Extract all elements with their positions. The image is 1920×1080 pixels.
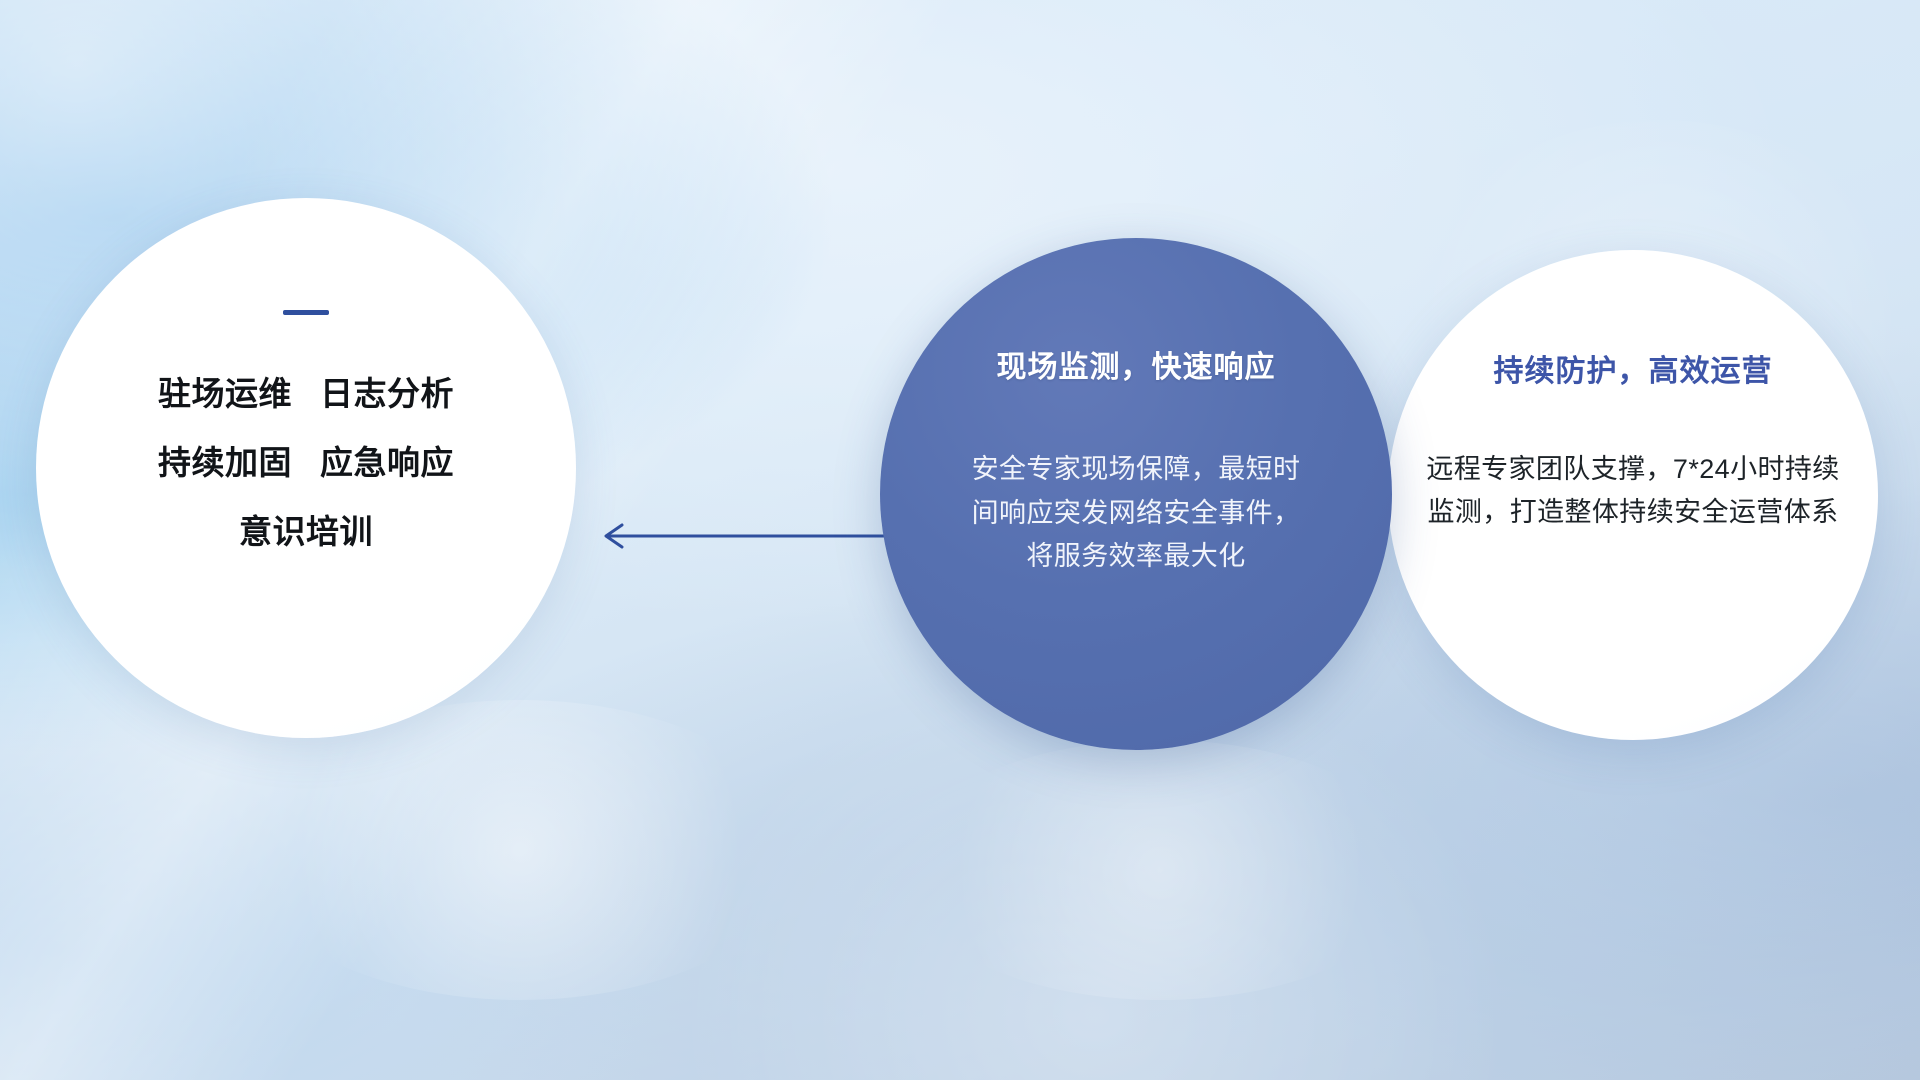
blue-circle-body: 安全专家现场保障，最短时间响应突发网络安全事件，将服务效率最大化 (971, 448, 1301, 579)
onsite-monitoring-circle[interactable]: 现场监测，快速响应 安全专家现场保障，最短时间响应突发网络安全事件，将服务效率最… (880, 238, 1392, 750)
capability-label-rizhifenxi: 日志分析 (320, 375, 454, 412)
flow-arrow-icon (594, 520, 894, 552)
capabilities-circle[interactable]: 驻场运维日志分析 持续加固应急响应 意识培训 (36, 198, 576, 738)
background-glow-left (240, 700, 800, 1000)
capability-label-yishipeixun: 意识培训 (239, 513, 373, 550)
blue-circle-title: 现场监测，快速响应 (997, 342, 1276, 386)
background-glow-center (900, 740, 1420, 1000)
continuous-operations-circle[interactable]: 持续防护，高效运营 远程专家团队支撑，7*24小时持续监测，打造整体持续安全运营… (1388, 250, 1878, 740)
right-circle-body: 远程专家团队支撑，7*24小时持续监测，打造整体持续安全运营体系 (1423, 448, 1843, 534)
capability-row-3: 意识培训 (239, 515, 373, 548)
capability-label-yingjixiangying: 应急响应 (320, 444, 454, 481)
divider-dash-icon (283, 310, 329, 315)
diagram-canvas: 驻场运维日志分析 持续加固应急响应 意识培训 持续防护，高效运营 远程专家团队支… (0, 0, 1920, 1080)
capability-row-2: 持续加固应急响应 (158, 446, 454, 479)
capability-label-chixujiagu: 持续加固 (158, 444, 292, 481)
capability-label-zhuchangyunwei: 驻场运维 (158, 375, 292, 412)
capability-row-1: 驻场运维日志分析 (158, 377, 454, 410)
right-circle-title: 持续防护，高效运营 (1494, 346, 1773, 390)
